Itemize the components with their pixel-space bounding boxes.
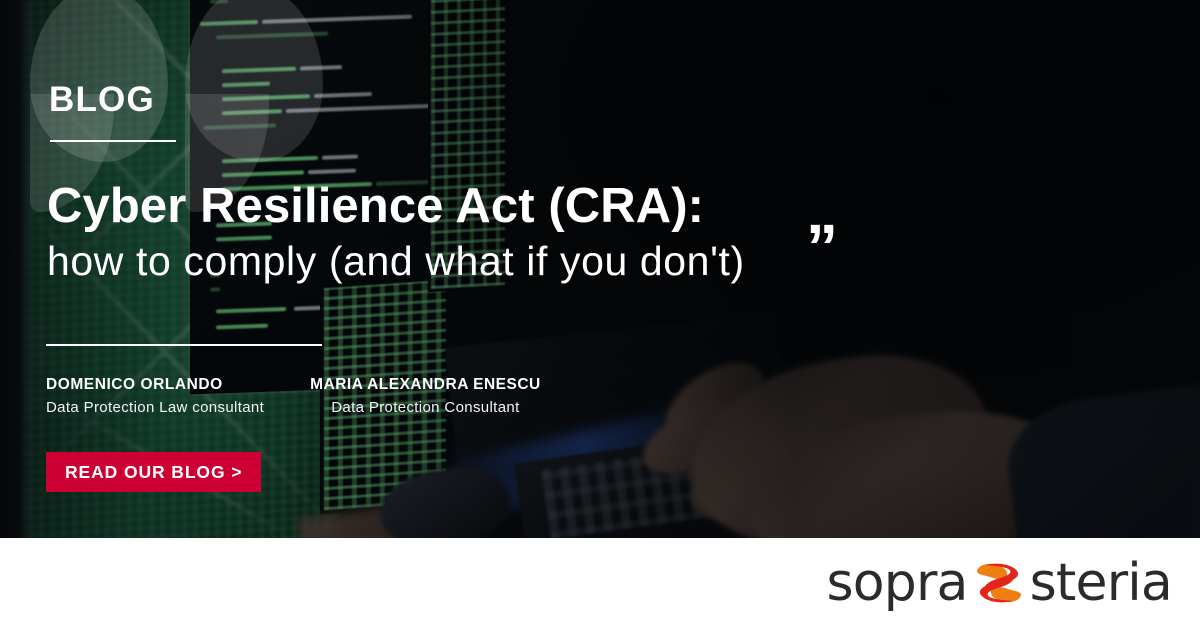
- author-role: Data Protection Consultant: [331, 399, 519, 416]
- page-title-line-1: Cyber Resilience Act (CRA):: [47, 178, 704, 234]
- author-role: Data Protection Law consultant: [46, 399, 264, 416]
- author-name: DOMENICO ORLANDO: [46, 376, 264, 394]
- authors-divider: [46, 344, 322, 346]
- eyebrow-label: BLOG: [49, 80, 155, 120]
- author-entry: DOMENICO ORLANDO Data Protection Law con…: [46, 376, 264, 416]
- page-title-line-2: how to comply (and what if you don't): [47, 238, 745, 285]
- decorative-close-quote-icon: ”: [806, 215, 839, 279]
- sopra-steria-logo[interactable]: sopra steria: [826, 557, 1172, 609]
- author-name: MARIA ALEXANDRA ENESCU: [310, 376, 541, 394]
- eyebrow-divider: [50, 140, 176, 142]
- logo-word-sopra: sopra: [826, 557, 967, 609]
- blog-promo-banner: ” BLOG Cyber Resilience Act (CRA): how t…: [0, 0, 1200, 627]
- logo-word-steria: steria: [1030, 557, 1172, 609]
- author-entry: MARIA ALEXANDRA ENESCU Data Protection C…: [310, 376, 541, 416]
- read-our-blog-button[interactable]: READ OUR BLOG >: [46, 452, 261, 492]
- authors-list: DOMENICO ORLANDO Data Protection Law con…: [46, 376, 541, 416]
- sopra-steria-s-mark-icon: [974, 561, 1024, 605]
- footer-bar: sopra steria: [0, 538, 1200, 627]
